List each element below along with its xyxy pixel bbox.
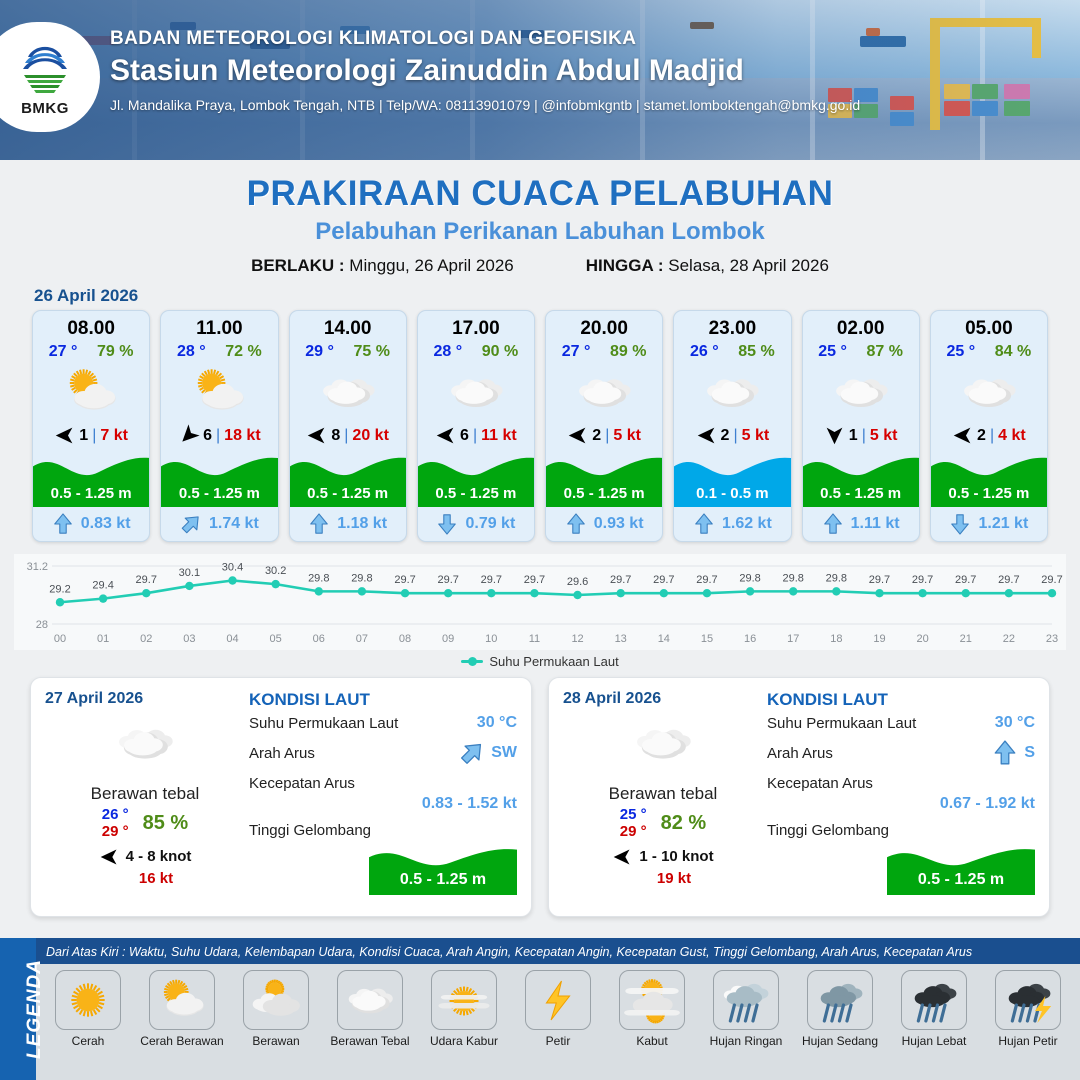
- card-current-speed: 1.74 kt: [209, 515, 259, 533]
- panel-wave: 0.5 - 1.25 m: [887, 841, 1035, 895]
- card-wind-speed: 7 kt: [100, 427, 128, 445]
- card-wind-degree: 8: [331, 427, 340, 445]
- legend-item-label: Hujan Petir: [998, 1034, 1057, 1048]
- svg-text:15: 15: [701, 633, 713, 645]
- card-current: 0.79 kt: [418, 507, 534, 541]
- svg-text:13: 13: [615, 633, 627, 645]
- svg-text:28: 28: [36, 619, 48, 631]
- card-wave: 0.5 - 1.25 m: [931, 449, 1047, 507]
- thunderstorm-icon: [995, 970, 1061, 1030]
- sun-cloud-icon: [149, 970, 215, 1030]
- wind-direction-arrow-icon: [54, 425, 75, 446]
- sun-icon: [55, 970, 121, 1030]
- legend-item[interactable]: Kabut: [608, 970, 696, 1078]
- card-wave-height: 0.5 - 1.25 m: [931, 485, 1047, 502]
- lightning-icon: [525, 970, 591, 1030]
- card-wind-speed: 5 kt: [870, 427, 898, 445]
- svg-text:31.2: 31.2: [27, 561, 48, 573]
- sst-label: Suhu Permukaan Laut: [249, 715, 398, 732]
- wind-direction-arrow-icon: [435, 425, 456, 446]
- page-subtitle: Pelabuhan Perikanan Labuhan Lombok: [0, 218, 1080, 246]
- svg-text:30.4: 30.4: [222, 562, 243, 574]
- cloud-icon: [674, 361, 790, 423]
- card-current-speed: 1.21 kt: [978, 515, 1028, 533]
- wind-direction-arrow-icon: [99, 847, 119, 867]
- cloud-icon: [45, 712, 245, 774]
- svg-text:05: 05: [270, 633, 282, 645]
- svg-text:30.1: 30.1: [179, 567, 200, 579]
- sst-label: Suhu Permukaan Laut: [767, 715, 916, 732]
- current-direction-arrow-icon: [565, 513, 587, 535]
- card-humidity: 79 %: [97, 343, 133, 361]
- card-wave-height: 0.5 - 1.25 m: [33, 485, 149, 502]
- agency-name: BADAN METEOROLOGI KLIMATOLOGI DAN GEOFIS…: [110, 28, 860, 50]
- sst-value: 30 °C: [477, 714, 517, 732]
- card-humidity: 75 %: [353, 343, 389, 361]
- legend-label: Suhu Permukaan Laut: [489, 654, 618, 669]
- card-wind-separator: |: [344, 427, 348, 445]
- card-time: 17.00: [418, 311, 534, 340]
- card-wind: 6 | 11 kt: [418, 423, 534, 449]
- card-wind-degree: 6: [203, 427, 212, 445]
- card-wave: 0.5 - 1.25 m: [290, 449, 406, 507]
- card-current-speed: 1.18 kt: [337, 515, 387, 533]
- panel-date: 28 April 2026: [563, 690, 763, 708]
- card-time: 20.00: [546, 311, 662, 340]
- current-direction-label: Arah Arus: [249, 745, 315, 762]
- card-temperature: 25 °: [818, 343, 847, 361]
- current-direction-label: Arah Arus: [767, 745, 833, 762]
- card-wind-speed: 4 kt: [998, 427, 1026, 445]
- card-current: 1.62 kt: [674, 507, 790, 541]
- partly-cloud-icon: [243, 970, 309, 1030]
- card-wind-separator: |: [605, 427, 609, 445]
- card-wave-height: 0.1 - 0.5 m: [674, 485, 790, 502]
- panel-condition: Berawan tebal: [563, 784, 763, 804]
- svg-text:29.7: 29.7: [955, 574, 976, 586]
- current-direction-value: S: [1024, 744, 1035, 762]
- card-wind-degree: 2: [592, 427, 601, 445]
- hourly-day-label: 26 April 2026: [34, 286, 1080, 306]
- valid-until-label: HINGGA :: [586, 256, 664, 275]
- cloud-icon: [418, 361, 534, 423]
- sea-conditions-title: KONDISI LAUT: [767, 690, 1035, 710]
- card-time: 05.00: [931, 311, 1047, 340]
- sst-value: 30 °C: [995, 714, 1035, 732]
- chart-legend: Suhu Permukaan Laut: [0, 654, 1080, 669]
- svg-text:29.7: 29.7: [998, 574, 1019, 586]
- svg-text:23: 23: [1046, 633, 1058, 645]
- legend-item-label: Cerah Berawan: [140, 1034, 223, 1048]
- card-humidity: 90 %: [482, 343, 518, 361]
- daily-panels: 27 April 2026 Berawan tebal 26 ° 29 ° 85…: [0, 669, 1080, 917]
- legend-item-label: Kabut: [636, 1034, 667, 1048]
- legend-item-label: Petir: [546, 1034, 571, 1048]
- current-direction-arrow-icon: [436, 513, 458, 535]
- card-current-speed: 1.11 kt: [851, 515, 900, 533]
- validity-dates: BERLAKU : Minggu, 26 April 2026 HINGGA :…: [0, 256, 1080, 276]
- card-temperature: 27 °: [562, 343, 591, 361]
- panel-temperatures: 26 ° 29 ° 85 %: [45, 806, 245, 841]
- current-speed-value: 0.67 - 1.92 kt: [767, 795, 1035, 813]
- svg-text:29.7: 29.7: [437, 574, 458, 586]
- cloud-icon: [563, 712, 763, 774]
- card-wind: 2 | 5 kt: [546, 423, 662, 449]
- hourly-forecast-row: 08.00 27 ° 79 % 1 | 7 kt 0.5 - 1.25 m: [0, 310, 1080, 542]
- card-time: 11.00: [161, 311, 277, 340]
- hourly-card[interactable]: 08.00 27 ° 79 % 1 | 7 kt 0.5 - 1.25 m: [32, 310, 150, 542]
- sea-conditions-title: KONDISI LAUT: [249, 690, 517, 710]
- svg-text:08: 08: [399, 633, 411, 645]
- panel-wind-range: 1 - 10 knot: [639, 848, 713, 865]
- card-wave: 0.1 - 0.5 m: [674, 449, 790, 507]
- svg-text:29.7: 29.7: [912, 574, 933, 586]
- cloud-icon: [546, 361, 662, 423]
- wind-direction-arrow-icon: [567, 425, 588, 446]
- card-wind-speed: 5 kt: [742, 427, 770, 445]
- card-wave: 0.5 - 1.25 m: [33, 449, 149, 507]
- svg-text:18: 18: [830, 633, 842, 645]
- hourly-card[interactable]: 14.00 29 ° 75 % 8 | 20 kt: [289, 310, 407, 542]
- svg-text:09: 09: [442, 633, 454, 645]
- valid-from-label: BERLAKU :: [251, 256, 345, 275]
- current-direction-arrow-icon: [992, 740, 1018, 766]
- panel-condition: Berawan tebal: [45, 784, 245, 804]
- svg-text:17: 17: [787, 633, 799, 645]
- legend-item-label: Hujan Lebat: [902, 1034, 967, 1048]
- card-wind: 6 | 18 kt: [161, 423, 277, 449]
- card-temperature: 28 °: [434, 343, 463, 361]
- hourly-card[interactable]: 05.00 25 ° 84 % 2 | 4 kt: [930, 310, 1048, 542]
- legend-tab: LEGENDA: [0, 938, 36, 1080]
- card-temperature: 28 °: [177, 343, 206, 361]
- card-wave-height: 0.5 - 1.25 m: [803, 485, 919, 502]
- panel-gust: 16 kt: [67, 870, 245, 887]
- card-temperature: 29 °: [305, 343, 334, 361]
- wind-direction-arrow-icon: [612, 847, 632, 867]
- hourly-card[interactable]: 23.00 26 ° 85 % 2 | 5 kt: [673, 310, 791, 542]
- logo-label: BMKG: [21, 100, 69, 117]
- card-current: 1.11 kt: [803, 507, 919, 541]
- card-current: 0.83 kt: [33, 507, 149, 541]
- panel-gust: 19 kt: [585, 870, 763, 887]
- station-name: Stasiun Meteorologi Zainuddin Abdul Madj…: [110, 54, 860, 88]
- svg-text:02: 02: [140, 633, 152, 645]
- legend-marker-icon: [461, 660, 483, 663]
- svg-text:04: 04: [226, 633, 238, 645]
- card-wind: 2 | 4 kt: [931, 423, 1047, 449]
- bmkg-logo-icon: [14, 37, 76, 99]
- legend-item-label: Hujan Ringan: [710, 1034, 783, 1048]
- page-title: PRAKIRAAN CUACA PELABUHAN: [0, 174, 1080, 214]
- legend-item[interactable]: Berawan: [232, 970, 320, 1078]
- panel-humidity: 82 %: [661, 812, 707, 835]
- svg-text:29.7: 29.7: [696, 574, 717, 586]
- card-wave-height: 0.5 - 1.25 m: [546, 485, 662, 502]
- legend-item-label: Hujan Sedang: [802, 1034, 878, 1048]
- svg-text:01: 01: [97, 633, 109, 645]
- card-time: 14.00: [290, 311, 406, 340]
- svg-text:29.8: 29.8: [739, 572, 760, 584]
- svg-text:29.7: 29.7: [869, 574, 890, 586]
- card-wave: 0.5 - 1.25 m: [418, 449, 534, 507]
- panel-humidity: 85 %: [143, 812, 189, 835]
- haze-icon: [431, 970, 497, 1030]
- heavy-rain-icon: [901, 970, 967, 1030]
- card-current-speed: 0.93 kt: [594, 515, 644, 533]
- current-speed-label: Kecepatan Arus: [767, 775, 1035, 792]
- card-wind: 1 | 7 kt: [33, 423, 149, 449]
- svg-text:06: 06: [313, 633, 325, 645]
- wind-direction-arrow-icon: [178, 425, 199, 446]
- wave-height-label: Tinggi Gelombang: [767, 822, 1035, 839]
- legend-item-label: Udara Kabur: [430, 1034, 498, 1048]
- svg-text:07: 07: [356, 633, 368, 645]
- svg-text:30.2: 30.2: [265, 565, 286, 577]
- cloud-icon: [931, 361, 1047, 423]
- card-wind-separator: |: [216, 427, 220, 445]
- card-time: 02.00: [803, 311, 919, 340]
- card-current: 1.74 kt: [161, 507, 277, 541]
- panel-wave: 0.5 - 1.25 m: [369, 841, 517, 895]
- svg-text:00: 00: [54, 633, 66, 645]
- svg-text:22: 22: [1003, 633, 1015, 645]
- legend-item[interactable]: Udara Kabur: [420, 970, 508, 1078]
- sun-cloud-icon: [33, 361, 149, 423]
- card-time: 23.00: [674, 311, 790, 340]
- page-header: BMKG BADAN METEOROLOGI KLIMATOLOGI DAN G…: [0, 0, 1080, 160]
- hourly-card[interactable]: 17.00 28 ° 90 % 6 | 11 kt: [417, 310, 535, 542]
- card-wave: 0.5 - 1.25 m: [161, 449, 277, 507]
- contact-info: Jl. Mandalika Praya, Lombok Tengah, NTB …: [110, 97, 860, 113]
- panel-temp-max: 29 °: [620, 823, 647, 840]
- svg-text:16: 16: [744, 633, 756, 645]
- svg-text:29.7: 29.7: [481, 574, 502, 586]
- card-wind-speed: 20 kt: [352, 427, 388, 445]
- card-humidity: 85 %: [738, 343, 774, 361]
- current-direction-arrow-icon: [180, 513, 202, 535]
- svg-text:29.7: 29.7: [394, 574, 415, 586]
- svg-text:21: 21: [960, 633, 972, 645]
- card-humidity: 72 %: [225, 343, 261, 361]
- svg-text:11: 11: [529, 633, 540, 645]
- valid-until-value: Selasa, 28 April 2026: [668, 256, 829, 275]
- card-wind-degree: 2: [721, 427, 730, 445]
- hourly-card[interactable]: 11.00 28 ° 72 % 6 | 18 kt 0.5 - 1.25 m: [160, 310, 278, 542]
- legend-item[interactable]: Berawan Tebal: [326, 970, 414, 1078]
- card-wind-separator: |: [92, 427, 96, 445]
- current-direction-arrow-icon: [822, 513, 844, 535]
- card-wind: 8 | 20 kt: [290, 423, 406, 449]
- valid-until: HINGGA : Selasa, 28 April 2026: [586, 256, 829, 276]
- legend-item[interactable]: Cerah: [44, 970, 132, 1078]
- legend-item[interactable]: Cerah Berawan: [138, 970, 226, 1078]
- hourly-card[interactable]: 02.00 25 ° 87 % 1 | 5 kt: [802, 310, 920, 542]
- wind-direction-arrow-icon: [696, 425, 717, 446]
- legend-item[interactable]: Hujan Lebat: [890, 970, 978, 1078]
- card-wind: 1 | 5 kt: [803, 423, 919, 449]
- svg-text:14: 14: [658, 633, 670, 645]
- card-wind-degree: 1: [849, 427, 858, 445]
- svg-text:20: 20: [916, 633, 928, 645]
- svg-text:29.7: 29.7: [653, 574, 674, 586]
- wind-direction-arrow-icon: [306, 425, 327, 446]
- panel-temp-max: 29 °: [102, 823, 129, 840]
- panel-wave-value: 0.5 - 1.25 m: [369, 871, 517, 889]
- svg-text:29.8: 29.8: [351, 572, 372, 584]
- sun-cloud-icon: [161, 361, 277, 423]
- legend-item-label: Berawan: [252, 1034, 299, 1048]
- hourly-card[interactable]: 20.00 27 ° 89 % 2 | 5 kt: [545, 310, 663, 542]
- card-wind-speed: 18 kt: [224, 427, 260, 445]
- svg-text:29.8: 29.8: [826, 572, 847, 584]
- card-current: 1.18 kt: [290, 507, 406, 541]
- fog-icon: [619, 970, 685, 1030]
- panel-temp-min: 25 °: [620, 806, 647, 823]
- wind-direction-arrow-icon: [952, 425, 973, 446]
- card-humidity: 84 %: [995, 343, 1031, 361]
- legend-bar: LEGENDA Dari Atas Kiri : Waktu, Suhu Uda…: [0, 938, 1080, 1080]
- card-temperature: 25 °: [947, 343, 976, 361]
- card-humidity: 89 %: [610, 343, 646, 361]
- svg-text:29.7: 29.7: [610, 574, 631, 586]
- legend-item-label: Cerah: [72, 1034, 105, 1048]
- panel-wind: 4 - 8 knot: [45, 847, 245, 867]
- wind-direction-arrow-icon: [824, 425, 845, 446]
- light-rain-icon: [713, 970, 779, 1030]
- panel-wave-value: 0.5 - 1.25 m: [887, 871, 1035, 889]
- svg-text:29.4: 29.4: [92, 580, 113, 592]
- panel-wind-range: 4 - 8 knot: [126, 848, 192, 865]
- card-wind-speed: 5 kt: [613, 427, 641, 445]
- panel-date: 27 April 2026: [45, 690, 245, 708]
- svg-text:19: 19: [873, 633, 885, 645]
- svg-text:12: 12: [571, 633, 583, 645]
- card-wind-degree: 1: [79, 427, 88, 445]
- card-wind-speed: 11 kt: [481, 427, 517, 445]
- svg-text:03: 03: [183, 633, 195, 645]
- cloud-icon: [337, 970, 403, 1030]
- moderate-rain-icon: [807, 970, 873, 1030]
- card-time: 08.00: [33, 311, 149, 340]
- svg-text:29.2: 29.2: [49, 583, 70, 595]
- current-direction-arrow-icon: [949, 513, 971, 535]
- card-current-speed: 0.83 kt: [81, 515, 131, 533]
- card-current-speed: 1.62 kt: [722, 515, 772, 533]
- card-wind: 2 | 5 kt: [674, 423, 790, 449]
- valid-from-value: Minggu, 26 April 2026: [349, 256, 513, 275]
- card-wind-degree: 2: [977, 427, 986, 445]
- current-direction-arrow-icon: [52, 513, 74, 535]
- legend-caption: Dari Atas Kiri : Waktu, Suhu Udara, Kele…: [36, 938, 1080, 964]
- cloud-icon: [290, 361, 406, 423]
- card-wave-height: 0.5 - 1.25 m: [161, 485, 277, 502]
- card-wave-height: 0.5 - 1.25 m: [418, 485, 534, 502]
- legend-item-label: Berawan Tebal: [330, 1034, 409, 1048]
- cloud-icon: [803, 361, 919, 423]
- valid-from: BERLAKU : Minggu, 26 April 2026: [251, 256, 514, 276]
- wave-height-label: Tinggi Gelombang: [249, 822, 517, 839]
- card-wind-separator: |: [733, 427, 737, 445]
- daily-panel[interactable]: 27 April 2026 Berawan tebal 26 ° 29 ° 85…: [30, 677, 532, 917]
- daily-panel[interactable]: 28 April 2026 Berawan tebal 25 ° 29 ° 82…: [548, 677, 1050, 917]
- svg-text:29.6: 29.6: [567, 576, 588, 588]
- card-wind-separator: |: [990, 427, 994, 445]
- legend-item[interactable]: Hujan Ringan: [702, 970, 790, 1078]
- card-current: 0.93 kt: [546, 507, 662, 541]
- svg-text:29.8: 29.8: [308, 572, 329, 584]
- current-speed-value: 0.83 - 1.52 kt: [249, 795, 517, 813]
- legend-item[interactable]: Hujan Petir: [984, 970, 1072, 1078]
- legend-items: Cerah Cerah Berawan Berawan: [36, 964, 1080, 1080]
- card-current: 1.21 kt: [931, 507, 1047, 541]
- legend-tab-label: LEGENDA: [24, 938, 46, 1080]
- title-block: PRAKIRAAN CUACA PELABUHAN Pelabuhan Peri…: [0, 160, 1080, 276]
- svg-text:29.7: 29.7: [136, 574, 157, 586]
- current-speed-label: Kecepatan Arus: [249, 775, 517, 792]
- card-humidity: 87 %: [866, 343, 902, 361]
- card-current-speed: 0.79 kt: [465, 515, 515, 533]
- panel-wind: 1 - 10 knot: [563, 847, 763, 867]
- card-wind-separator: |: [473, 427, 477, 445]
- legend-item[interactable]: Petir: [514, 970, 602, 1078]
- svg-text:29.7: 29.7: [1041, 574, 1062, 586]
- current-direction-arrow-icon: [459, 740, 485, 766]
- legend-item[interactable]: Hujan Sedang: [796, 970, 884, 1078]
- card-wave: 0.5 - 1.25 m: [546, 449, 662, 507]
- panel-temperatures: 25 ° 29 ° 82 %: [563, 806, 763, 841]
- panel-temp-min: 26 °: [102, 806, 129, 823]
- card-wind-degree: 6: [460, 427, 469, 445]
- svg-text:29.7: 29.7: [524, 574, 545, 586]
- card-wind-separator: |: [862, 427, 866, 445]
- card-wave: 0.5 - 1.25 m: [803, 449, 919, 507]
- card-wave-height: 0.5 - 1.25 m: [290, 485, 406, 502]
- card-temperature: 26 °: [690, 343, 719, 361]
- current-direction-arrow-icon: [308, 513, 330, 535]
- current-direction-value: SW: [491, 744, 517, 762]
- current-direction-arrow-icon: [693, 513, 715, 535]
- card-temperature: 27 °: [49, 343, 78, 361]
- svg-text:29.8: 29.8: [783, 572, 804, 584]
- sst-chart: 31.22829.20029.40129.70230.10330.40430.2…: [14, 554, 1066, 650]
- svg-text:10: 10: [485, 633, 497, 645]
